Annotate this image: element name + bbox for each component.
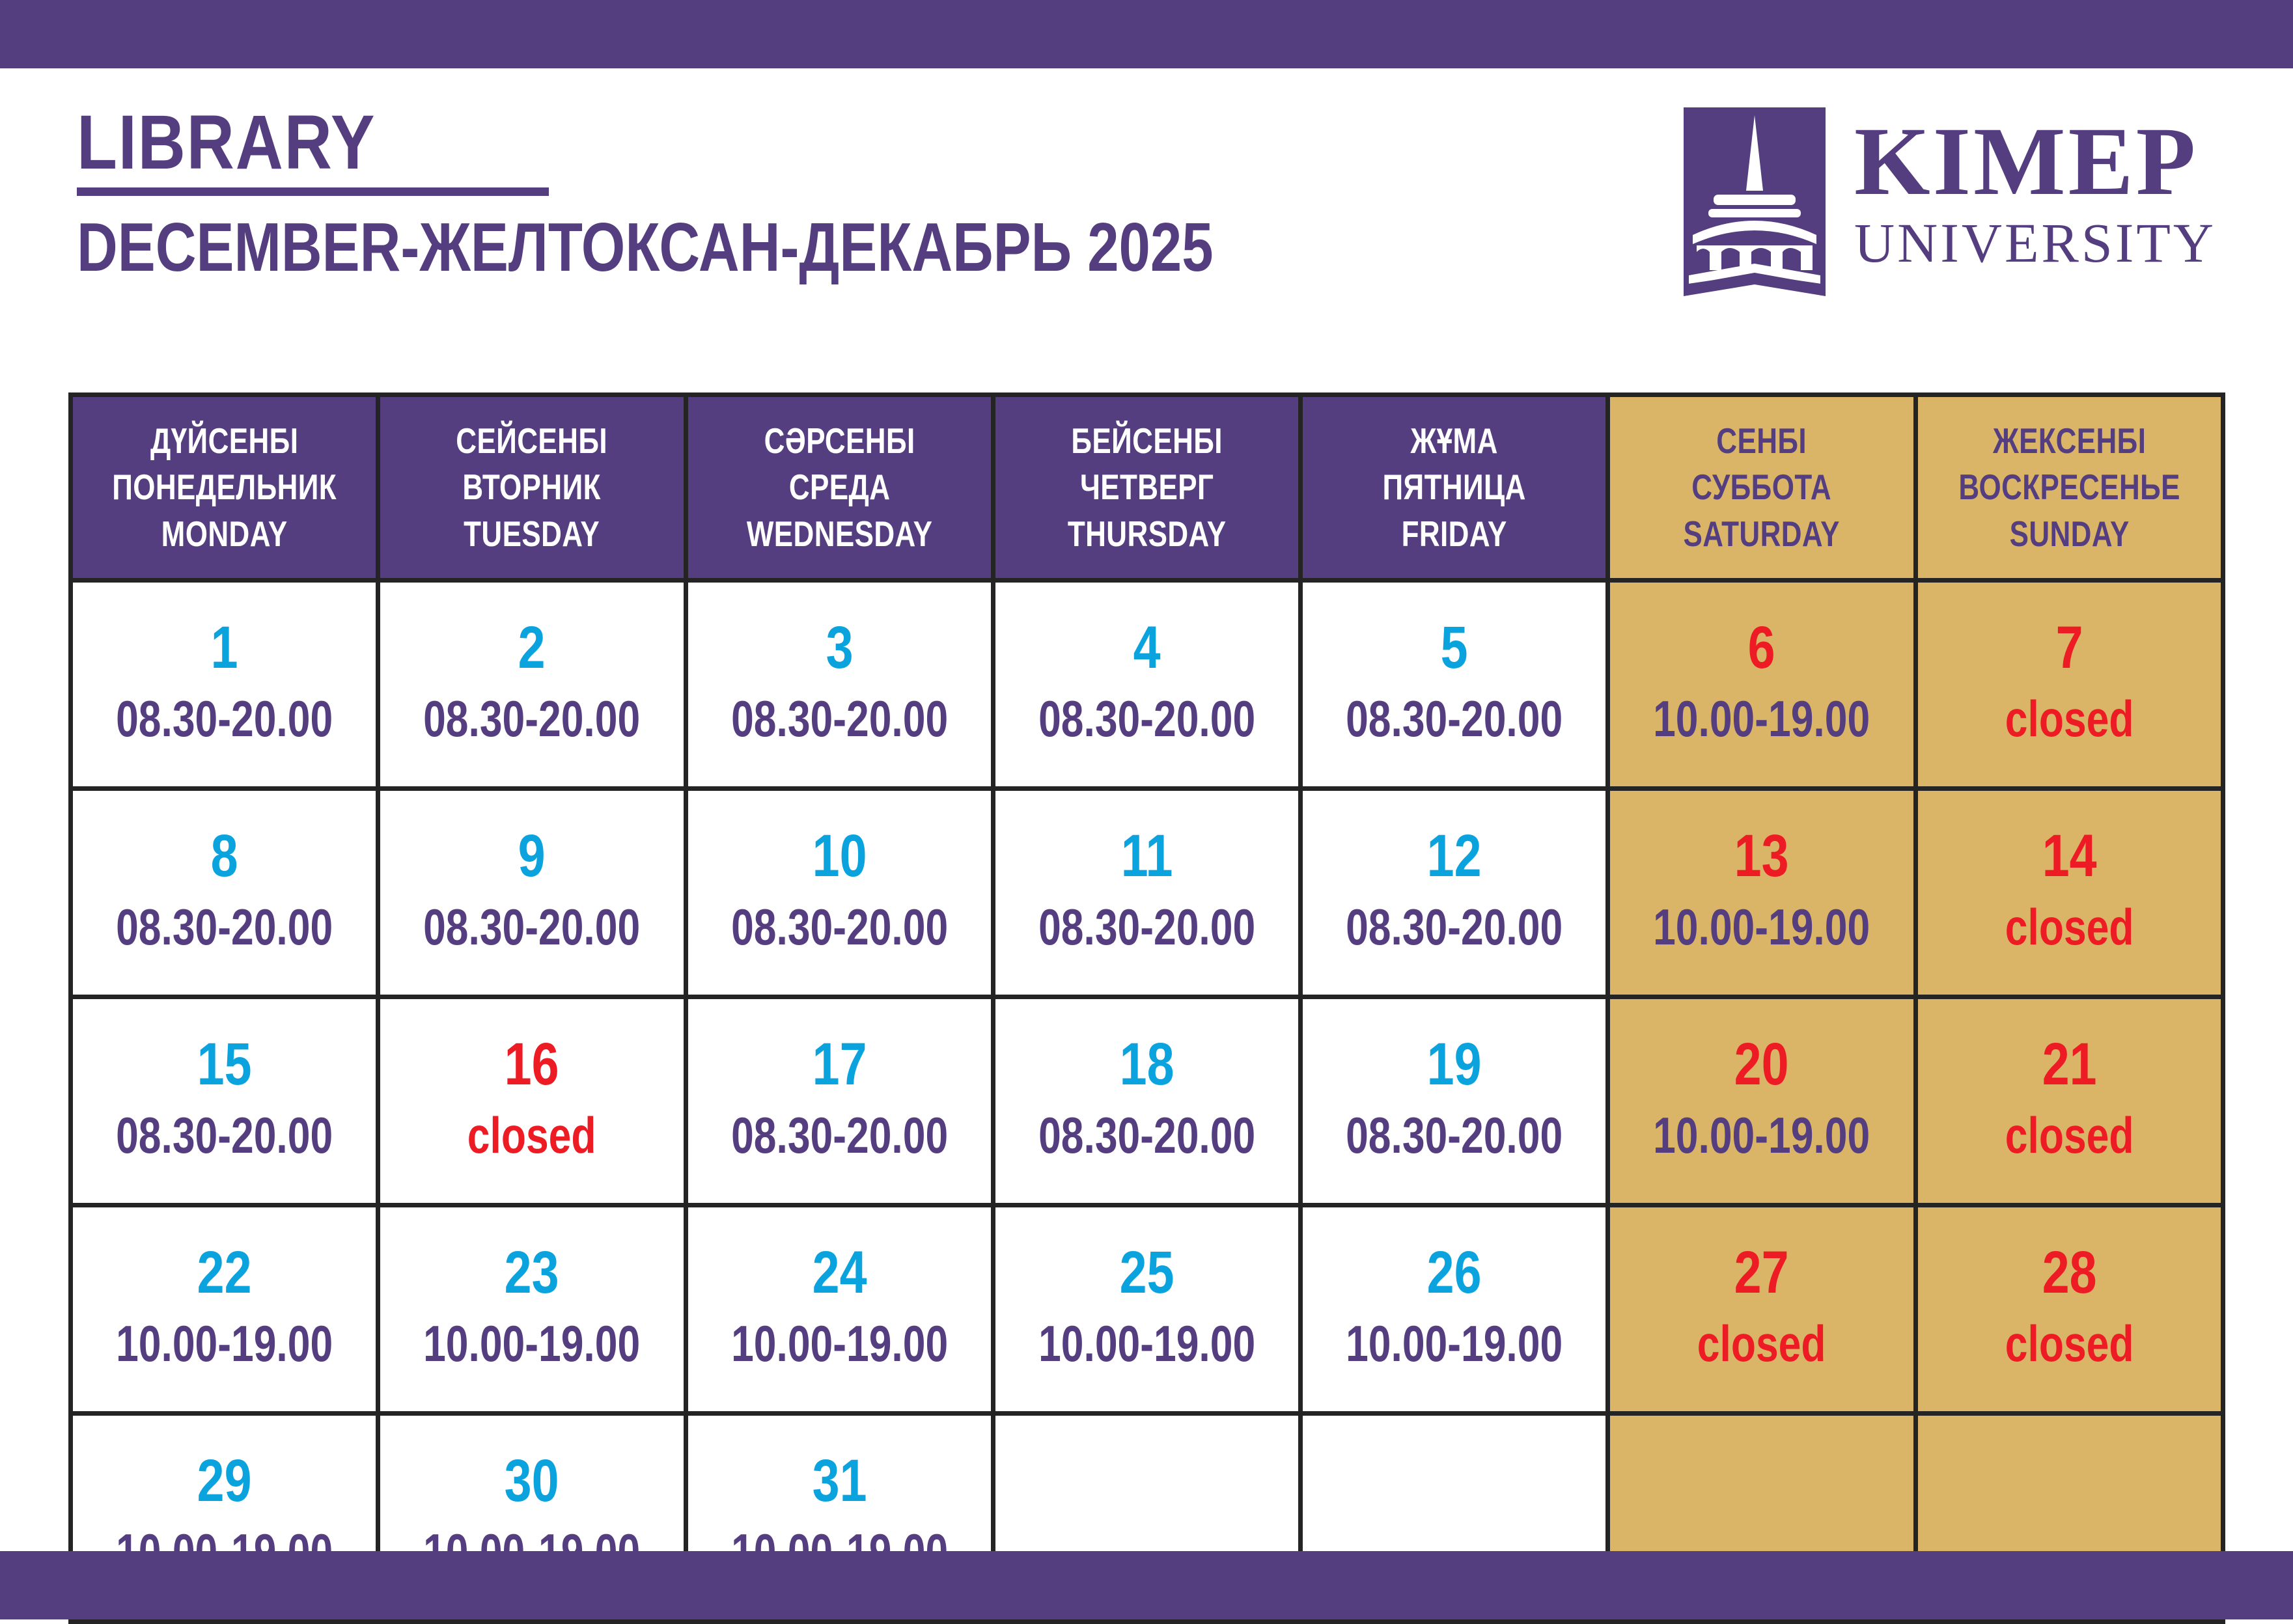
header-ru: ВОСКРЕСЕНЬЕ — [1951, 464, 2188, 511]
day-cell: 2610.00-19.00 — [1301, 1205, 1608, 1414]
opening-hours: 08.30-20.00 — [106, 691, 342, 747]
header-ru: ПЯТНИЦА — [1336, 464, 1572, 511]
day-cell: 2210.00-19.00 — [71, 1205, 378, 1414]
day-cell: 28closed — [1915, 1205, 2223, 1414]
day-cell: 1310.00-19.00 — [1608, 789, 1915, 997]
day-cell: 7closed — [1915, 581, 2223, 789]
day-cell: 2310.00-19.00 — [378, 1205, 686, 1414]
day-cell: 1008.30-20.00 — [686, 789, 993, 997]
column-header-friday: ЖҰМА ПЯТНИЦА FRIDAY — [1301, 395, 1608, 581]
logo-name: KIMEP — [1854, 114, 2216, 210]
column-header-sunday: ЖЕКСЕНБІ ВОСКРЕСЕНЬЕ SUNDAY — [1915, 395, 2223, 581]
opening-hours: 10.00-19.00 — [1644, 691, 1880, 747]
day-cell: 2010.00-19.00 — [1608, 997, 1915, 1205]
opening-hours: 08.30-20.00 — [1029, 1108, 1265, 1164]
day-number: 17 — [718, 1033, 960, 1096]
day-cell: 2410.00-19.00 — [686, 1205, 993, 1414]
column-header-wednesday: СӘРСЕНБІ СРЕДА WEDNESDAY — [686, 395, 993, 581]
day-cell: 610.00-19.00 — [1608, 581, 1915, 789]
column-header-tuesday: СЕЙСЕНБІ ВТОРНИК TUESDAY — [378, 395, 686, 581]
opening-hours: 08.30-20.00 — [721, 691, 958, 747]
header-kk: БЕЙСЕНБІ — [1029, 418, 1265, 465]
header-kk: ЖҰМА — [1336, 418, 1572, 465]
day-cell: 1508.30-20.00 — [71, 997, 378, 1205]
header-en: SATURDAY — [1644, 511, 1880, 558]
day-number: 24 — [718, 1241, 960, 1304]
opening-hours: 08.30-20.00 — [414, 691, 650, 747]
day-number: 27 — [1641, 1241, 1883, 1304]
header-en: FRIDAY — [1336, 511, 1572, 558]
header-ru: ВТОРНИК — [414, 464, 650, 511]
header-en: MONDAY — [106, 511, 342, 558]
opening-hours: 08.30-20.00 — [106, 900, 342, 956]
opening-hours: 10.00-19.00 — [1029, 1316, 1265, 1372]
day-number: 6 — [1641, 616, 1883, 680]
logo-suffix: UNIVERSITY — [1854, 213, 2216, 272]
day-cell: 14closed — [1915, 789, 2223, 997]
day-number: 30 — [411, 1450, 653, 1513]
day-number: 20 — [1641, 1033, 1883, 1096]
day-number: 21 — [1948, 1033, 2190, 1096]
header-kk: СӘРСЕНБІ — [721, 418, 958, 465]
kimep-tower-icon — [1684, 107, 1826, 296]
day-number: 22 — [104, 1241, 346, 1304]
header-kk: СЕНБІ — [1644, 418, 1880, 465]
opening-hours: 08.30-20.00 — [721, 1108, 958, 1164]
day-cell: 16closed — [378, 997, 686, 1205]
opening-hours: 08.30-20.00 — [1336, 691, 1572, 747]
poster-header: LIBRARY DECEMBER-ЖЕЛТОКСАН-ДЕКАБРЬ 2025 … — [0, 68, 2293, 392]
column-header-saturday: СЕНБІ СУББОТА SATURDAY — [1608, 395, 1915, 581]
day-number: 3 — [718, 616, 960, 680]
title-block: LIBRARY DECEMBER-ЖЕЛТОКСАН-ДЕКАБРЬ 2025 — [0, 68, 1463, 282]
day-number: 9 — [411, 825, 653, 888]
header-kk: ЖЕКСЕНБІ — [1951, 418, 2188, 465]
header-en: SUNDAY — [1951, 511, 2188, 558]
day-number: 11 — [1026, 825, 1268, 888]
day-number: 29 — [104, 1450, 346, 1513]
day-number: 23 — [411, 1241, 653, 1304]
day-number: 15 — [104, 1033, 346, 1096]
page-title: LIBRARY — [77, 104, 376, 181]
day-number: 4 — [1026, 616, 1268, 680]
day-cell: 1708.30-20.00 — [686, 997, 993, 1205]
day-cell: 508.30-20.00 — [1301, 581, 1608, 789]
opening-hours: 10.00-19.00 — [414, 1316, 650, 1372]
library-schedule-table: ДҮЙСЕНБІ ПОНЕДЕЛЬНИК MONDAY СЕЙСЕНБІ ВТО… — [68, 392, 2225, 1624]
day-cell: 1208.30-20.00 — [1301, 789, 1608, 997]
column-header-monday: ДҮЙСЕНБІ ПОНЕДЕЛЬНИК MONDAY — [71, 395, 378, 581]
header-en: WEDNESDAY — [721, 511, 958, 558]
table-header-row: ДҮЙСЕНБІ ПОНЕДЕЛЬНИК MONDAY СЕЙСЕНБІ ВТО… — [71, 395, 2223, 581]
day-number: 31 — [718, 1450, 960, 1513]
day-cell: 308.30-20.00 — [686, 581, 993, 789]
opening-hours: 08.30-20.00 — [414, 900, 650, 956]
closed-label: closed — [1644, 1316, 1880, 1372]
week-row: 808.30-20.00908.30-20.001008.30-20.00110… — [71, 789, 2223, 997]
day-cell: 1108.30-20.00 — [993, 789, 1300, 997]
day-cell: 908.30-20.00 — [378, 789, 686, 997]
closed-label: closed — [1951, 1316, 2188, 1372]
day-number: 10 — [718, 825, 960, 888]
day-number: 19 — [1333, 1033, 1576, 1096]
closed-label: closed — [1951, 691, 2188, 747]
day-number: 12 — [1333, 825, 1576, 888]
day-number: 1 — [104, 616, 346, 680]
opening-hours: 08.30-20.00 — [1029, 691, 1265, 747]
opening-hours: 10.00-19.00 — [1336, 1316, 1572, 1372]
day-number: 18 — [1026, 1033, 1268, 1096]
title-underline — [77, 187, 549, 196]
day-cell: 408.30-20.00 — [993, 581, 1300, 789]
opening-hours: 10.00-19.00 — [106, 1316, 342, 1372]
opening-hours: 08.30-20.00 — [106, 1108, 342, 1164]
day-number: 13 — [1641, 825, 1883, 888]
day-cell: 808.30-20.00 — [71, 789, 378, 997]
header-ru: ПОНЕДЕЛЬНИК — [106, 464, 342, 511]
day-cell: 2510.00-19.00 — [993, 1205, 1300, 1414]
opening-hours: 10.00-19.00 — [1644, 900, 1880, 956]
bottom-accent-bar — [0, 1551, 2293, 1619]
day-number: 26 — [1333, 1241, 1576, 1304]
week-row: 2210.00-19.002310.00-19.002410.00-19.002… — [71, 1205, 2223, 1414]
page-subtitle: DECEMBER-ЖЕЛТОКСАН-ДЕКАБРЬ 2025 — [77, 213, 1214, 282]
week-row: 1508.30-20.0016closed1708.30-20.001808.3… — [71, 997, 2223, 1205]
header-en: THURSDAY — [1029, 511, 1265, 558]
day-number: 16 — [411, 1033, 653, 1096]
header-ru: СРЕДА — [721, 464, 958, 511]
day-cell: 208.30-20.00 — [378, 581, 686, 789]
opening-hours: 08.30-20.00 — [1336, 1108, 1572, 1164]
day-cell: 1808.30-20.00 — [993, 997, 1300, 1205]
opening-hours: 08.30-20.00 — [1029, 900, 1265, 956]
day-cell: 1908.30-20.00 — [1301, 997, 1608, 1205]
kimep-logo: KIMEP UNIVERSITY — [1684, 68, 2293, 296]
header-kk: СЕЙСЕНБІ — [414, 418, 650, 465]
column-header-thursday: БЕЙСЕНБІ ЧЕТВЕРГ THURSDAY — [993, 395, 1300, 581]
logo-wordmark: KIMEP UNIVERSITY — [1854, 107, 2216, 272]
day-number: 14 — [1948, 825, 2190, 888]
header-ru: СУББОТА — [1644, 464, 1880, 511]
opening-hours: 10.00-19.00 — [1644, 1108, 1880, 1164]
week-row: 108.30-20.00208.30-20.00308.30-20.00408.… — [71, 581, 2223, 789]
closed-label: closed — [1951, 900, 2188, 956]
day-cell: 27closed — [1608, 1205, 1915, 1414]
opening-hours: 08.30-20.00 — [721, 900, 958, 956]
day-number: 5 — [1333, 616, 1576, 680]
day-number: 28 — [1948, 1241, 2190, 1304]
opening-hours: 08.30-20.00 — [1336, 900, 1572, 956]
closed-label: closed — [414, 1108, 650, 1164]
day-cell: 108.30-20.00 — [71, 581, 378, 789]
header-kk: ДҮЙСЕНБІ — [106, 418, 342, 465]
day-number: 25 — [1026, 1241, 1268, 1304]
top-accent-bar — [0, 0, 2293, 68]
closed-label: closed — [1951, 1108, 2188, 1164]
calendar-body: 108.30-20.00208.30-20.00308.30-20.00408.… — [71, 581, 2223, 1622]
day-number: 7 — [1948, 616, 2190, 680]
header-ru: ЧЕТВЕРГ — [1029, 464, 1265, 511]
day-number: 2 — [411, 616, 653, 680]
opening-hours: 10.00-19.00 — [721, 1316, 958, 1372]
day-number: 8 — [104, 825, 346, 888]
day-cell: 21closed — [1915, 997, 2223, 1205]
header-en: TUESDAY — [414, 511, 650, 558]
